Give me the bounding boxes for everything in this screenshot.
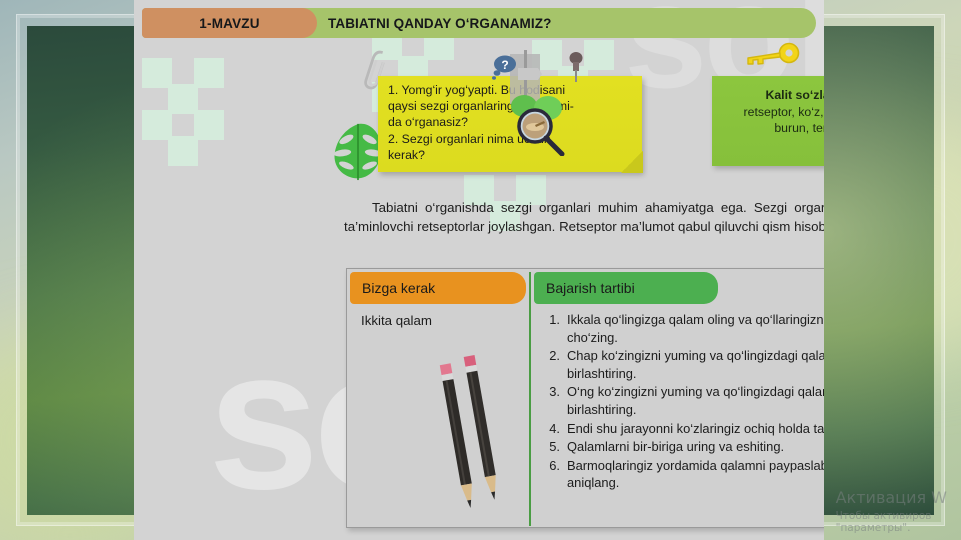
step-text: O‘ng ko‘zingizni yuming va qo‘lingizdagi… — [567, 383, 824, 418]
question-card: 1. Yomg‘ir yog‘yapti. Bu hodisani qaysi … — [378, 76, 642, 172]
slide-page: soff soff soff 1-MAVZU TABIATNI QANDAY O… — [134, 0, 824, 540]
step-text: Barmoqlaringiz yordamida qalamni paypasl… — [567, 457, 824, 492]
list-item: 1. Ikkala qo‘lingizga qalam oling va qo‘… — [543, 311, 824, 346]
table-column-divider — [529, 272, 531, 526]
activation-line-2: Чтобы активиров — [836, 510, 947, 522]
key-icon — [742, 42, 802, 72]
keywords-line-2: burun, teri — [712, 120, 824, 137]
body-paragraph: Tabiatni o‘rganishda sezgi organlari muh… — [344, 198, 824, 236]
question-line-3: da o‘rganasiz? — [388, 114, 633, 130]
step-number: 2. — [543, 347, 567, 382]
step-number: 3. — [543, 383, 567, 418]
list-item: 2. Chap ko‘zingizni yuming va qo‘lingizd… — [543, 347, 824, 382]
steps-list: 1. Ikkala qo‘lingizga qalam oling va qo‘… — [543, 311, 824, 493]
page-title: TABIATNI QANDAY O‘RGANAMIZ? — [328, 8, 551, 38]
slide-viewer: soff soff soff 1-MAVZU TABIATNI QANDAY O… — [0, 0, 961, 540]
question-line-4: 2. Sezgi organlari nima uchun — [388, 131, 633, 147]
question-line-2: qaysi sezgi organlaringiz yordami- — [388, 98, 633, 114]
question-line-5: kerak? — [388, 147, 633, 163]
step-number: 6. — [543, 457, 567, 492]
step-number: 1. — [543, 311, 567, 346]
topic-label: 1-MAVZU — [142, 8, 317, 38]
list-item: 5. Qalamlarni bir-biriga uring va eshiti… — [543, 438, 824, 456]
pencils-image — [422, 347, 518, 519]
keywords-title: Kalit so‘zlar: — [712, 87, 824, 104]
table-header-right: Bajarish tartibi — [534, 272, 718, 304]
activation-line-3: "параметры". — [836, 522, 947, 534]
question-line-1: 1. Yomg‘ir yog‘yapti. Bu hodisani — [388, 82, 633, 98]
slide-header: 1-MAVZU TABIATNI QANDAY O‘RGANAMIZ? — [142, 8, 816, 38]
list-item: 6. Barmoqlaringiz yordamida qalamni payp… — [543, 457, 824, 492]
step-text: Chap ko‘zingizni yuming va qo‘lingizdagi… — [567, 347, 824, 382]
activity-table: Bizga kerak Bajarish tartibi Ikkita qala… — [346, 268, 824, 528]
keywords-card: Kalit so‘zlar: retseptor, ko‘z, quloq, b… — [712, 76, 824, 166]
step-number: 4. — [543, 420, 567, 438]
list-item: 3. O‘ng ko‘zingizni yuming va qo‘lingizd… — [543, 383, 824, 418]
svg-text:?: ? — [501, 58, 508, 72]
table-header-left: Bizga kerak — [350, 272, 526, 304]
windows-activation-watermark: Активация W Чтобы активиров "параметры". — [836, 488, 947, 534]
step-text: Ikkala qo‘lingizga qalam oling va qo‘lla… — [567, 311, 824, 346]
step-text: Qalamlarni bir-biriga uring va eshiting. — [567, 438, 824, 456]
step-text: Endi shu jarayonni ko‘zlaringiz ochiq ho… — [567, 420, 824, 438]
table-left-cell-text: Ikkita qalam — [361, 313, 432, 328]
step-number: 5. — [543, 438, 567, 456]
keywords-line-1: retseptor, ko‘z, quloq, — [712, 104, 824, 121]
list-item: 4. Endi shu jarayonni ko‘zlaringiz ochiq… — [543, 420, 824, 438]
activation-line-1: Активация W — [836, 488, 947, 507]
